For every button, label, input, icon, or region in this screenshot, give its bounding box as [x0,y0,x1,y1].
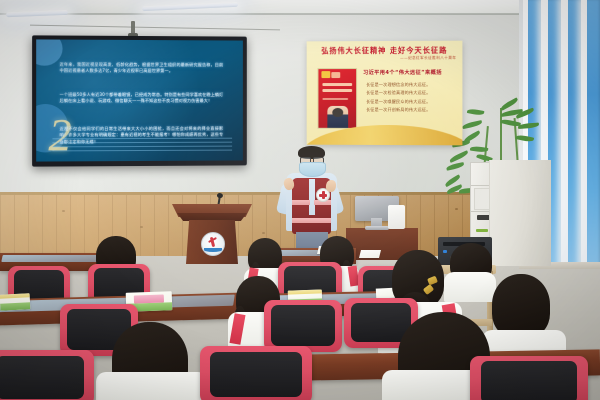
poster-section-title: 习近平用4个“伟大远征”来概括 [363,69,458,76]
vest-reflective-stripe [292,218,331,223]
classroom-photo: 2 近年来，我国近视呈现高发、低龄化趋势。根据世界卫生组织的最新研究报告称，目前… [0,0,600,400]
podium-top-face [174,213,250,221]
ceiling [0,0,600,14]
book-leader-portrait [327,106,348,128]
monitor-base [365,226,389,230]
desk-glass-top [1,255,98,262]
student-m3 [492,274,550,338]
classroom-chair[interactable] [0,350,94,400]
paper-stack [388,205,405,229]
presentation-display[interactable]: 2 近年来，我国近视呈现高发、低龄化趋势。根据世界卫生组织的最新研究报告称，目前… [32,35,247,166]
projector-mount-bracket-icon [131,21,135,36]
slide-decor-lines [52,138,232,155]
student-f1-torso [96,372,208,400]
slide-paragraph-1: 近年来，我国近视呈现高发、低龄化趋势。根据世界卫生组织的最新研究报告称，目前中国… [60,62,224,75]
book-gold-emblem-icon [321,71,330,78]
vest-reflective-stripe [292,200,310,205]
poster-headline: 弘扬伟大长征精神 走好今天长征路 [313,46,457,57]
lectern-podium [172,196,252,264]
health-booklet[interactable] [0,293,30,311]
long-march-wall-poster: 弘扬伟大长征精神 走好今天长征路 ——纪念红军长征胜利八十周年 习近平用4个“伟… [307,41,463,146]
classroom-chair[interactable] [200,346,312,400]
slide-surface: 2 近年来，我国近视呈现高发、低龄化趋势。根据世界卫生组织的最新研究报告称，目前… [36,39,243,161]
wall-partition [489,160,551,266]
cabinet-label [476,229,488,232]
poster-bullet: 长征是一次理想信念的伟大远征。 [366,81,458,89]
student-b4-torso [444,272,496,302]
poster-bullet: 长征是一次唤醒民众的伟大远征。 [366,98,458,106]
speaker-vest-opening [309,179,315,215]
classroom-chair[interactable] [470,356,588,400]
face-mask-icon [299,162,326,177]
poster-book-cover [317,68,357,129]
poster-bullet-list: 长征是一次理想信念的伟大远征。 长征是一次检验真理的伟大远征。 长征是一次唤醒民… [366,81,458,115]
poster-bullet: 长征是一次开创新局的伟大远征。 [366,106,458,115]
book-title-block [331,72,340,78]
worksheet-paper [359,250,381,258]
poster-subheadline: ——纪念红军长征胜利八十周年 [313,56,463,61]
school-crest-icon [201,232,225,256]
classroom-chair[interactable] [264,300,342,352]
slide-paragraph-2: 一个班级50多人有近30个都带着眼镜，已经成为常态。特别是有些同学喜欢在晚上躺灯… [60,92,224,105]
ceiling-edge [0,13,600,15]
poster-bullet: 长征是一次检验真理的伟大远征。 [366,89,458,97]
